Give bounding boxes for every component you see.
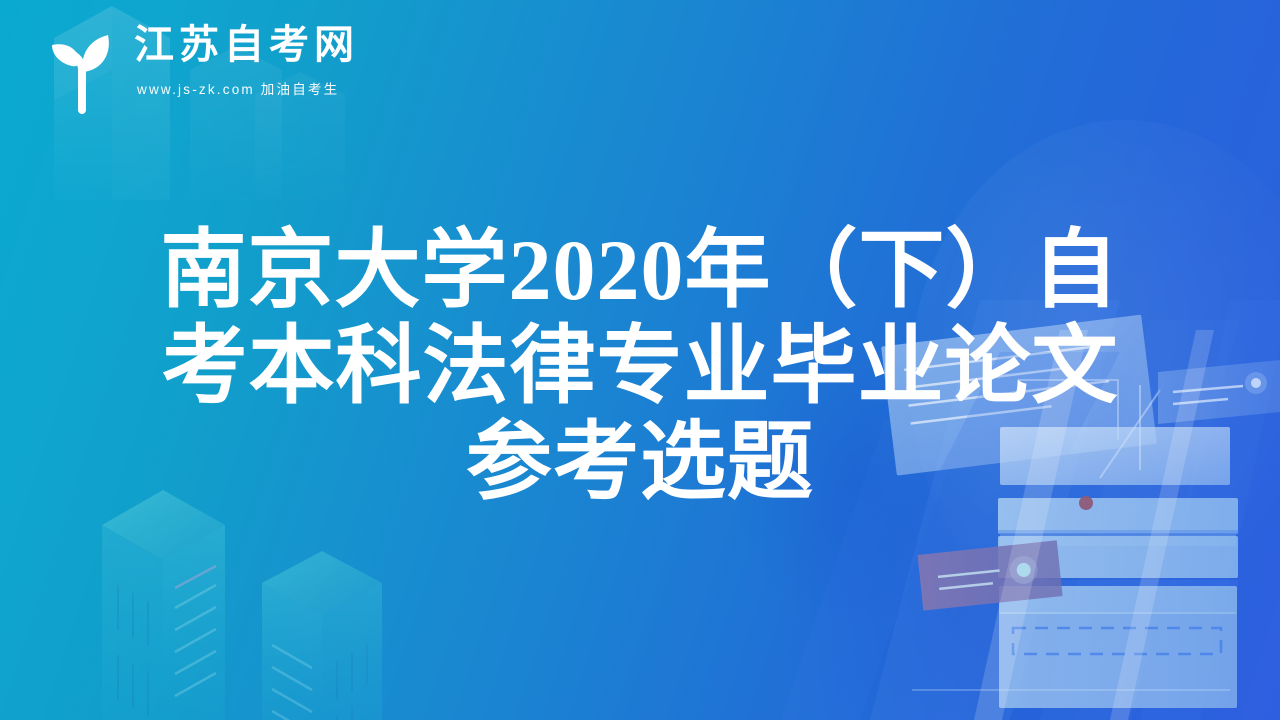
promo-banner: 江苏自考网 www.js-zk.com 加油自考生 南京大学2020年（下）自考… xyxy=(0,0,1280,720)
building-tall xyxy=(102,490,225,720)
sprout-leaf-icon xyxy=(36,18,124,114)
logo-subtitle: www.js-zk.com 加油自考生 xyxy=(137,78,359,98)
building-short xyxy=(262,551,382,720)
site-logo[interactable]: 江苏自考网 www.js-zk.com 加油自考生 xyxy=(36,18,359,114)
highlight-card-purple xyxy=(918,540,1063,610)
page-title: 南京大学2020年（下）自考本科法律专业毕业论文参考选题 xyxy=(0,222,1280,510)
logo-title: 江苏自考网 xyxy=(134,22,359,69)
